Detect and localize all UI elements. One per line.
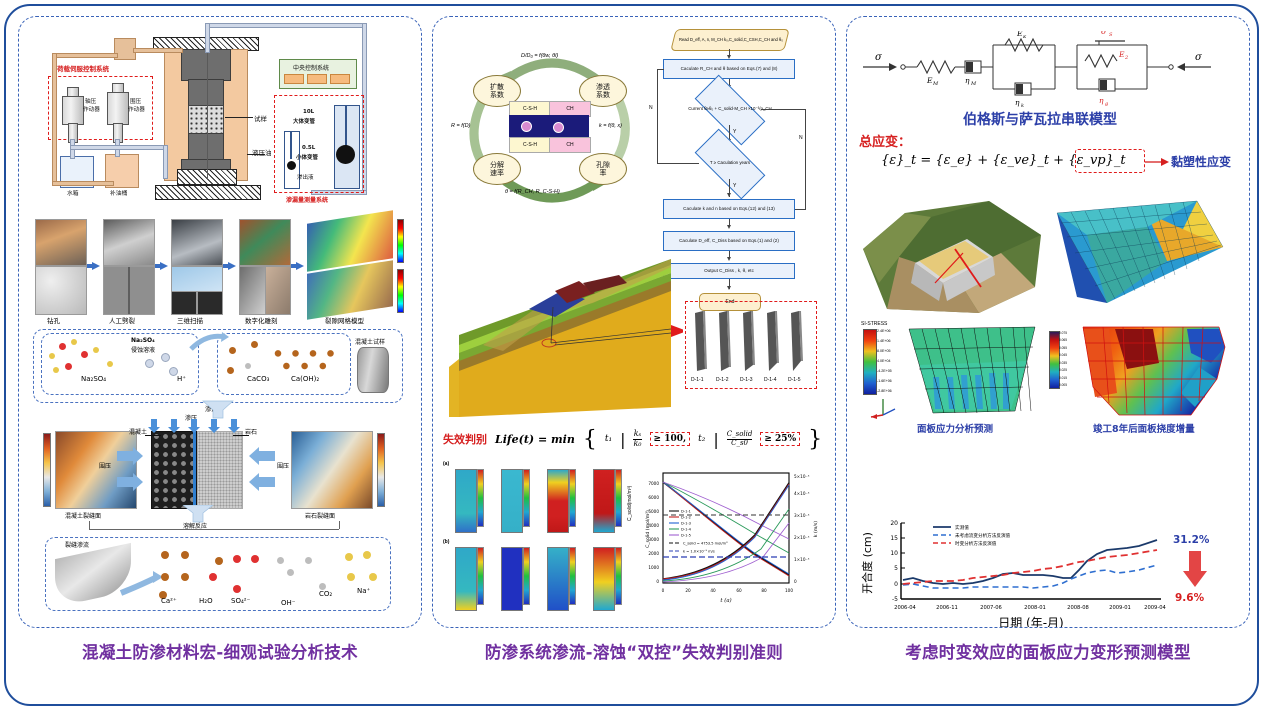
deflection-contour-svg (1079, 323, 1229, 421)
svg-text:2: 2 (1124, 55, 1128, 61)
big-tube-float (336, 145, 355, 164)
concrete-fracture-label: 混凝土裂缝面 (65, 511, 101, 520)
fracture-plane (193, 431, 196, 507)
central-control-label: 中央控制系统 (293, 63, 329, 72)
test-apparatus-diagram: 荷载伺服控制系统 轴压 作动器 围压 作动器 水箱 补油桶 (25, 21, 411, 217)
leader-horiz (89, 529, 339, 530)
pipe-left-vert (52, 53, 57, 185)
annotation-lower: 9.6% (1175, 592, 1205, 604)
concrete-core-section (151, 431, 197, 509)
failure-label: 失效判别 (443, 431, 487, 447)
specimen-label: 试样 (254, 113, 267, 123)
flow-arrow-4 (727, 193, 731, 197)
contour-b4-bar (615, 547, 622, 605)
control-led-3 (330, 74, 350, 84)
slice-label-0: D-1-1 (691, 377, 704, 383)
svg-text:1×10⁻⁵: 1×10⁻⁵ (794, 557, 810, 562)
fracture-flow-label: 裂缝渗流 (65, 540, 89, 549)
molecule-ca-2 (251, 341, 258, 348)
concrete-specimen-icon (357, 347, 389, 393)
defl-cb-4: 0.035 (1059, 361, 1077, 365)
flow-feedback-right-bot (795, 209, 806, 210)
svg-text:3×10⁻⁵: 3×10⁻⁵ (794, 513, 810, 518)
svg-text:0: 0 (894, 581, 898, 588)
svg-text:M: M (970, 81, 977, 87)
failure-ratio-2: C_solid C_s0 (727, 431, 753, 447)
node-porosity: 孔隙率 (579, 153, 627, 185)
right-leader-v (339, 521, 340, 529)
dam-terrain-svg (859, 191, 1045, 319)
svg-text:20: 20 (685, 588, 691, 593)
flow-input-text: Read D_eff, A, n, M_CH k₀,C_solid,C_CSH,… (675, 30, 787, 50)
svg-text:g: g (1105, 101, 1108, 107)
stress-cb-4: -4.2E+05 (877, 369, 903, 373)
stress-contour-figure: SI-STRESS 2.4E+06 1.4E+06 8.0E+05 4.0E+0… (859, 321, 1045, 433)
small-tube-rod (290, 131, 292, 159)
svg-text:σ: σ (875, 52, 883, 63)
matrix-cell-csh-bot: C-S-H (509, 137, 551, 153)
y-axis-title: 开合度 (cm) (860, 532, 874, 594)
x-axis-title: 日期 (年-月) (998, 616, 1064, 628)
flow-decision-1-no: N (649, 105, 653, 111)
contour-a2 (501, 469, 523, 533)
press-bottom-plate (155, 185, 261, 200)
deflection-contour-figure: 0.075 0.065 0.055 0.045 0.035 0.025 0.01… (1047, 321, 1233, 433)
node-decomposition-l2: 速率 (490, 169, 504, 177)
flow-feedback-right-top (761, 109, 806, 110)
ion-ca-6 (215, 557, 223, 565)
panel-3-caption: 考虑时变效应的面板应力变形预测模型 (846, 639, 1250, 663)
stress-cb-5: -1.6E+06 (877, 379, 903, 383)
defl-cb-1: 0.065 (1059, 338, 1077, 342)
svg-text:6000: 6000 (648, 495, 659, 500)
actuator-axial-label-1: 轴压 (85, 97, 96, 105)
node-permeability-l1: 渗透 (596, 83, 610, 91)
svg-text:t (a): t (a) (720, 597, 731, 604)
node-diffusion-l1: 扩散 (490, 83, 504, 91)
contour-b4 (593, 547, 615, 611)
caco3-label: CaCO₃ (247, 375, 269, 383)
big-tube-label-1: 10L (303, 109, 314, 115)
ion-so4-1 (209, 573, 217, 581)
strain-equation-block: 总应变： {ε}_t = {ε_e} + {ε_ve}_t + {ε_vp}_t… (859, 131, 1239, 187)
panel-3-box: σ E M η M (846, 16, 1250, 628)
svg-text:7000: 7000 (648, 481, 659, 486)
contour-b1 (455, 547, 477, 611)
ion-label-na: Na⁺ (357, 587, 370, 595)
svg-text:-5: -5 (892, 596, 898, 603)
node-porosity-l1: 孔隙 (596, 161, 610, 169)
ion-so4-4 (233, 585, 241, 593)
svg-text:κ: κ (1022, 34, 1027, 40)
svg-text:2008-08: 2008-08 (1067, 605, 1089, 611)
defl-cb-2: 0.055 (1059, 346, 1077, 350)
svg-text:D-1-2: D-1-2 (681, 516, 691, 520)
flow-arrow-6 (727, 257, 731, 261)
defl-cb-7: 0.005 (1059, 383, 1077, 387)
photo-engraved-face (265, 266, 291, 315)
panel-1-box: 荷载伺服控制系统 轴压 作动器 围压 作动器 水箱 补油桶 (18, 16, 422, 628)
defl-cb-5: 0.025 (1059, 368, 1077, 372)
seepage-liquid-label: 渗出液 (297, 173, 314, 181)
molecule-o-3 (93, 347, 99, 353)
defl-cb-6: 0.015 (1059, 376, 1077, 380)
small-tube-float (287, 161, 296, 170)
svg-text:2×10⁻⁵: 2×10⁻⁵ (794, 535, 810, 540)
fem-caption-0: 面板应力分析预测 (917, 421, 993, 435)
flow-decision-2-no: N (799, 135, 803, 141)
svg-text:5: 5 (894, 565, 898, 572)
photo-scan-a (171, 291, 197, 315)
opening-displacement-chart: 20 15 10 5 0 -5 2006-04 2006-11 2007-06 … (855, 515, 1235, 628)
actuator-confining-body (107, 92, 129, 125)
ion-na-3 (347, 573, 355, 581)
ion-ca-4 (181, 573, 189, 581)
workflow-label-4: 裂隙网格模型 (325, 315, 364, 325)
svg-text:0: 0 (662, 588, 665, 593)
pipe-upper-loop (205, 23, 367, 28)
pipe-bottom-left (52, 181, 114, 186)
svg-text:40: 40 (710, 588, 716, 593)
svg-text:2006-04: 2006-04 (894, 605, 916, 611)
molecule-ca-1 (229, 347, 236, 354)
fracture-permeability-diagram: 混凝土裂缝面 混凝土 岩石 渗压 (33, 419, 401, 529)
svg-text:σ: σ (1195, 52, 1203, 63)
control-led-1 (284, 74, 304, 84)
hydraulic-oil-label: 液压油 (252, 147, 272, 157)
csh-ch-matrix: C-S-H CH C-S-H CH (509, 101, 589, 151)
press-piston (181, 49, 231, 81)
node-decomposition-l1: 分解 (490, 161, 504, 169)
panel-2: 扩散系数 渗透系数 孔隙率 分解速率 C-S-H CH (432, 16, 836, 676)
svg-text:10: 10 (890, 550, 898, 557)
ion-c-2 (287, 569, 294, 576)
dam-mesh-svg (1047, 191, 1233, 319)
svg-text:0: 0 (794, 579, 797, 584)
flow-arrow-7 (727, 286, 731, 290)
ion-label-so4: SO₄²⁻ (231, 597, 250, 605)
pipe-top-left (52, 53, 118, 58)
svg-text:D-1-1: D-1-1 (681, 510, 691, 514)
seepage-arrow-1 (201, 399, 235, 419)
flow-feedback-right-v (805, 109, 806, 209)
photo-split-faces (103, 266, 155, 315)
stress-cb-3: 4.0E+04 (877, 359, 903, 363)
svg-text:2000: 2000 (648, 551, 659, 556)
caoh2-lattice (271, 345, 341, 373)
contour-row-a-label: (a) (443, 461, 449, 467)
molecule-s-3 (65, 363, 72, 370)
small-tube-label-1: 0.5L (302, 145, 315, 151)
molecule-h-2 (161, 353, 170, 362)
photo-cores (35, 266, 87, 315)
legend-1: 未考虑流变分析方法反演值 (955, 532, 1011, 539)
rock-surface-map (291, 431, 373, 509)
pipe-top-right (133, 48, 183, 53)
coupling-cycle-diagram: 扩散系数 渗透系数 孔隙率 分解速率 C-S-H CH (447, 31, 657, 221)
ion-c-1 (277, 557, 284, 564)
oil-tank-label: 补油桶 (110, 188, 127, 197)
contour-cbar-title: C_solid(mol/m³) (627, 486, 633, 521)
left-leader-v (89, 521, 90, 529)
photo-drilling-top (35, 219, 87, 266)
poster-panels: 荷载伺服控制系统 轴压 作动器 围压 作动器 水箱 补油桶 (18, 16, 1250, 676)
control-led-2 (307, 74, 327, 84)
load-servo-label: 荷载伺服控制系统 (57, 63, 109, 73)
failure-t1: t₁ (605, 434, 612, 444)
contour-b1-bar (477, 547, 484, 605)
failure-ratio1-den: k₀ (633, 440, 641, 449)
matrix-cell-ch-bot: CH (549, 137, 591, 153)
contour-a1-bar (477, 469, 484, 527)
rock-fracture-label: 岩石裂缝面 (305, 511, 335, 520)
specimen-leader (225, 117, 253, 118)
workflow-arrow-2 (155, 262, 168, 270)
flow-feedback-left-top (657, 69, 664, 70)
flow-decision-2-yes: Y (733, 183, 736, 189)
confining-arrows-right (245, 447, 275, 491)
failure-ratio2-den: C_s0 (727, 440, 753, 448)
annotation-upper: 31.2% (1173, 534, 1210, 546)
contour-b3-bar (569, 547, 576, 605)
svg-text:2008-01: 2008-01 (1024, 605, 1046, 611)
na2so4-label: Na₂SO₄ (81, 375, 106, 383)
stress-colorbar-labels: 2.4E+06 1.4E+06 8.0E+05 4.0E+04 -4.2E+05… (877, 329, 903, 393)
failure-lhs: Life(t) = min (495, 433, 575, 446)
slice-svg (693, 309, 809, 375)
flow-feedback-left-v (657, 69, 658, 163)
right-colorbar (377, 433, 385, 507)
svg-text:η: η (1099, 96, 1104, 105)
stress-colorbar-title: SI-STRESS (861, 321, 887, 327)
workflow-label-1: 人工劈裂 (109, 315, 135, 325)
molecule-h-3 (169, 367, 178, 376)
contour-b2-bar (523, 547, 530, 605)
actuator-confining-label-2: 作动器 (128, 105, 145, 113)
svg-text:E: E (1016, 31, 1023, 38)
mesh-colorbar-top (397, 219, 404, 263)
flow-process-1: Caculate R_CH and θ based on Eqs.(7) and… (663, 59, 795, 79)
node-decomposition: 分解速率 (473, 153, 521, 185)
ion-c-3 (305, 557, 312, 564)
photo-scan-b (197, 291, 223, 315)
svg-text:E: E (926, 76, 933, 85)
svg-text:σ: σ (1101, 31, 1107, 36)
actuator-axial-body (62, 96, 84, 125)
failure-criterion-row: 失效判别 Life(t) = min { t₁ | kₛ k₀ ≥ 100, t… (443, 417, 823, 461)
molecule-o-2 (49, 353, 55, 359)
svg-text:k = 1.0×10⁻⁵ m/s: k = 1.0×10⁻⁵ m/s (683, 550, 715, 554)
stress-cb-6: -2.8E+06 (877, 389, 903, 393)
svg-text:15: 15 (890, 535, 898, 542)
node-permeability-l2: 系数 (596, 91, 610, 99)
contour-a1 (455, 469, 477, 533)
matrix-ion-1 (521, 121, 532, 132)
ion-ca-1 (161, 551, 169, 559)
contour-row-b-label: (b) (443, 539, 449, 545)
rock-core-section (197, 431, 243, 509)
confining-arrows-left (117, 447, 147, 491)
slice-group (693, 309, 809, 375)
svg-text:D-1-3: D-1-3 (681, 522, 691, 526)
ion-label-co2: CO₂ (319, 590, 332, 598)
contour-a3-bar (569, 469, 576, 527)
defl-cb-3: 0.045 (1059, 353, 1077, 357)
svg-text:0: 0 (656, 579, 659, 584)
ion-ca-3 (161, 573, 169, 581)
molecule-o-4 (53, 367, 59, 373)
cycle-eq-left: R = f(D) (451, 123, 470, 129)
stress-cb-2: 8.0E+05 (877, 349, 903, 353)
svg-text:S: S (1109, 32, 1113, 38)
contour-b3 (547, 547, 569, 611)
opening-chart-svg: 20 15 10 5 0 -5 2006-04 2006-11 2007-06 … (855, 515, 1235, 628)
svg-text:η: η (1015, 98, 1020, 107)
pipe-mid-vert (163, 145, 168, 179)
svg-text:1000: 1000 (648, 565, 659, 570)
ion-so4-3 (251, 555, 259, 563)
contour-a3 (547, 469, 569, 533)
svg-text:C_solid = 4753.5 mol/m³: C_solid = 4753.5 mol/m³ (683, 542, 728, 546)
slice-label-3: D-1-4 (764, 377, 777, 383)
molecule-s-2 (81, 351, 88, 358)
workflow-label-0: 钻孔 (47, 315, 60, 325)
actuator-axial-label-2: 作动器 (83, 105, 100, 113)
svg-text:60: 60 (736, 588, 742, 593)
panel-2-box: 扩散系数 渗透系数 孔隙率 分解速率 C-S-H CH (432, 16, 836, 628)
panel-3: σ E M η M (846, 16, 1250, 676)
flow-arrow-5 (727, 225, 731, 229)
burgers-model-title: 伯格斯与萨瓦拉串联模型 (963, 109, 1117, 129)
molecule-c-1 (245, 363, 251, 369)
svg-text:E: E (1118, 50, 1125, 59)
na2so4-solution-label-1: Na₂SO₄ (131, 337, 155, 344)
na2so4-solution-label-2: 侵蚀溶液 (131, 345, 155, 354)
press-block-upper (188, 79, 224, 107)
leak-measure-label: 渗漏量测量系统 (286, 195, 328, 204)
deflection-colorbar-labels: 0.075 0.065 0.055 0.045 0.035 0.025 0.01… (1059, 331, 1077, 387)
contour-a2-bar (523, 469, 530, 527)
fem-caption-1: 竣工8年后面板挠度增量 (1093, 421, 1195, 435)
svg-text:D-1-5: D-1-5 (681, 534, 691, 538)
workflow-arrow-3 (223, 262, 236, 270)
small-tube-label-2: 小体变管 (296, 153, 318, 161)
stress-axis-triad-icon (869, 395, 897, 419)
photo-engraving-top (239, 219, 291, 266)
molecule-o-1 (71, 339, 77, 345)
failure-op-1: ≥ 100, (650, 432, 691, 446)
flow-feedback-left-bot (657, 163, 699, 164)
contour-grid: (a) (b) C_solid(mol/m³ (441, 461, 641, 621)
pipe-upper-loop-l (205, 23, 210, 53)
panel-2-caption: 防渗系统渗流-溶蚀“双控”失效判别准则 (432, 639, 836, 663)
svg-text:20: 20 (890, 520, 898, 527)
svg-text:4×10⁻⁵: 4×10⁻⁵ (794, 491, 810, 496)
ion-label-oh: OH⁻ (281, 599, 295, 607)
strain-annotation: 黏塑性应变 (1171, 153, 1231, 170)
molecule-o-5 (107, 361, 113, 367)
svg-text:2007-06: 2007-06 (980, 605, 1002, 611)
workflow-label-3: 数字化雕刻 (245, 315, 278, 325)
svg-text:η: η (965, 76, 970, 85)
strain-title: 总应变： (859, 131, 911, 150)
burgers-model-diagram: σ E M η M (855, 31, 1239, 123)
node-diffusion-l2: 系数 (490, 91, 504, 99)
svg-text:2009-01: 2009-01 (1109, 605, 1131, 611)
molecule-transfer-arrow (189, 331, 229, 353)
pipe-mid-horiz (70, 145, 168, 150)
panel-1: 荷载伺服控制系统 轴压 作动器 围压 作动器 水箱 补油桶 (18, 16, 422, 676)
molecule-h-1 (145, 359, 154, 368)
big-tube-rod (345, 105, 347, 147)
svg-text:k (m/s): k (m/s) (813, 521, 819, 537)
water-tank-label: 水箱 (67, 188, 79, 197)
actuator-confining-label-1: 围压 (130, 97, 141, 105)
stress-colorbar (863, 329, 877, 395)
ion-ca-2 (181, 551, 189, 559)
molecule-s-1 (59, 343, 66, 350)
confining-label-left: 围压 (99, 461, 111, 470)
stress-cb-0: 2.4E+06 (877, 329, 903, 333)
svg-text:D-1-4: D-1-4 (681, 528, 692, 532)
photo-engraved-core (239, 266, 266, 315)
press-center-rod (207, 49, 208, 179)
contour-a4-bar (615, 469, 622, 527)
flow-arrow-icon (119, 569, 163, 597)
strain-annotation-arrow (1145, 157, 1169, 167)
legend-0: 实测值 (955, 524, 969, 531)
cycle-eq-bottom: θ = f(R_CH, R_C-S-H) (505, 189, 560, 195)
concrete-specimen-label: 混凝土试样 (355, 337, 385, 346)
specimen-block (188, 105, 224, 135)
big-tube-label-2: 大体变管 (293, 117, 315, 125)
defl-cb-0: 0.075 (1059, 331, 1077, 335)
ion-na-1 (345, 553, 353, 561)
slice-label-2: D-1-3 (740, 377, 753, 383)
ion-label-ca: Ca²⁺ (161, 597, 177, 605)
dam-mesh-render (1047, 191, 1233, 319)
concrete-leader (145, 435, 161, 436)
svg-text:100: 100 (785, 588, 793, 593)
slice-label-4: D-1-5 (788, 377, 801, 383)
node-porosity-l2: 率 (600, 169, 607, 177)
dissolution-chart: 0 1000 2000 3000 4000 5000 6000 7000 0 2… (639, 465, 821, 619)
flow-decision-1-yes: Y (733, 129, 736, 135)
experimental-workflow-strip: 钻孔 人工劈裂 三维扫描 (25, 217, 411, 327)
stress-contour-svg (903, 325, 1041, 421)
molecule-ca-3 (227, 367, 234, 374)
contour-b2 (501, 547, 523, 611)
failure-op-2: ≥ 25% (760, 432, 800, 446)
slice-label-1: D-1-2 (716, 377, 729, 383)
caoh2-label: Ca(OH)₂ (291, 375, 319, 383)
algorithm-flowchart: Read D_eff, A, n, M_CH k₀,C_solid,C_CSH,… (647, 25, 817, 275)
flow-process-2: Caculate k and n based on Eqs.(12) and (… (663, 199, 795, 219)
cycle-eq-right: k = f(θ, x) (599, 123, 622, 129)
svg-text:5×10⁻⁵: 5×10⁻⁵ (794, 474, 810, 479)
workflow-arrow-4 (291, 262, 304, 270)
photo-scanning-top (171, 219, 223, 266)
ion-na-2 (363, 551, 371, 559)
matrix-ion-2 (553, 122, 564, 133)
panel-1-caption: 混凝土防渗材料宏-细观试验分析技术 (18, 639, 422, 663)
stress-cb-1: 1.4E+06 (877, 339, 903, 343)
photo-scan-model (171, 266, 223, 292)
contour-a4 (593, 469, 615, 533)
svg-text:2009-04: 2009-04 (1144, 605, 1166, 611)
h-plus-label: H⁺ (177, 375, 186, 383)
left-colorbar (43, 433, 51, 507)
